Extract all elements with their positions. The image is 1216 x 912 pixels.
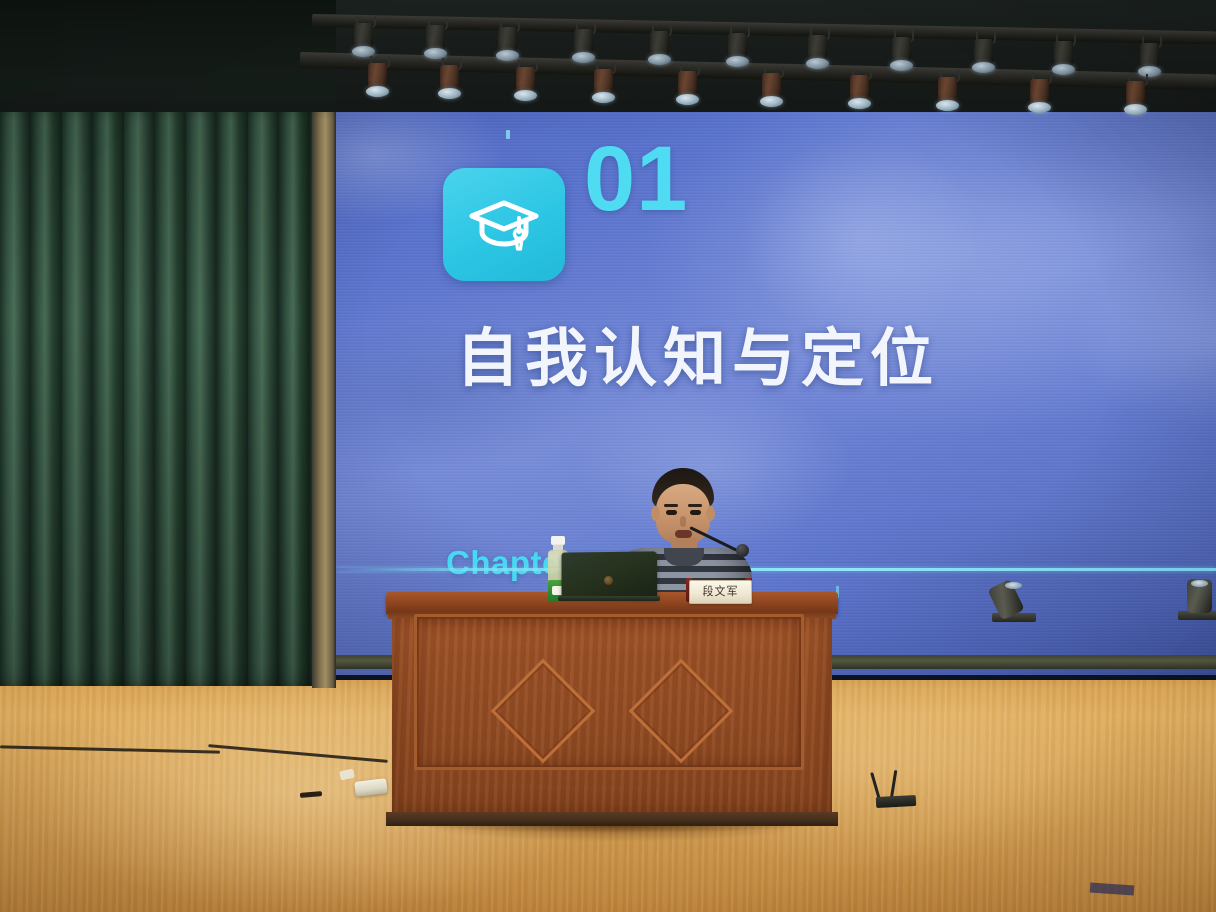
screen-artifact-dot: [506, 130, 510, 139]
graduation-cap-badge: [443, 168, 565, 281]
slide-title: 自我认知与定位: [456, 308, 939, 399]
speaker-eyebrow-right: [688, 504, 702, 507]
podium-inner-panel: [414, 614, 804, 770]
speaker-eyebrow-left: [664, 504, 678, 507]
speaker-ear-left: [651, 506, 660, 521]
nameplate-text: 段文军: [703, 586, 739, 598]
podium: [386, 592, 838, 840]
podium-floor-shadow: [380, 824, 846, 836]
wall-strip: [312, 84, 336, 688]
curtain-top-shadow: [0, 0, 336, 120]
speaker-nose: [680, 516, 686, 527]
speaker-eye-left: [666, 510, 677, 515]
speaker-ear-right: [706, 506, 715, 521]
speaker-eye-right: [690, 510, 701, 515]
graduation-cap-icon: [466, 195, 542, 255]
laptop-logo-icon: [604, 576, 613, 585]
microphone-icon: [736, 544, 749, 557]
speaker-mouth: [675, 530, 692, 538]
stage-photo-scene: 01 自我认知与定位 Chapter: [0, 0, 1216, 912]
slide-divider-line: [336, 568, 1216, 571]
slide-chapter-number: 01: [584, 133, 688, 225]
projection-screen: 01 自我认知与定位 Chapter: [336, 86, 1216, 675]
